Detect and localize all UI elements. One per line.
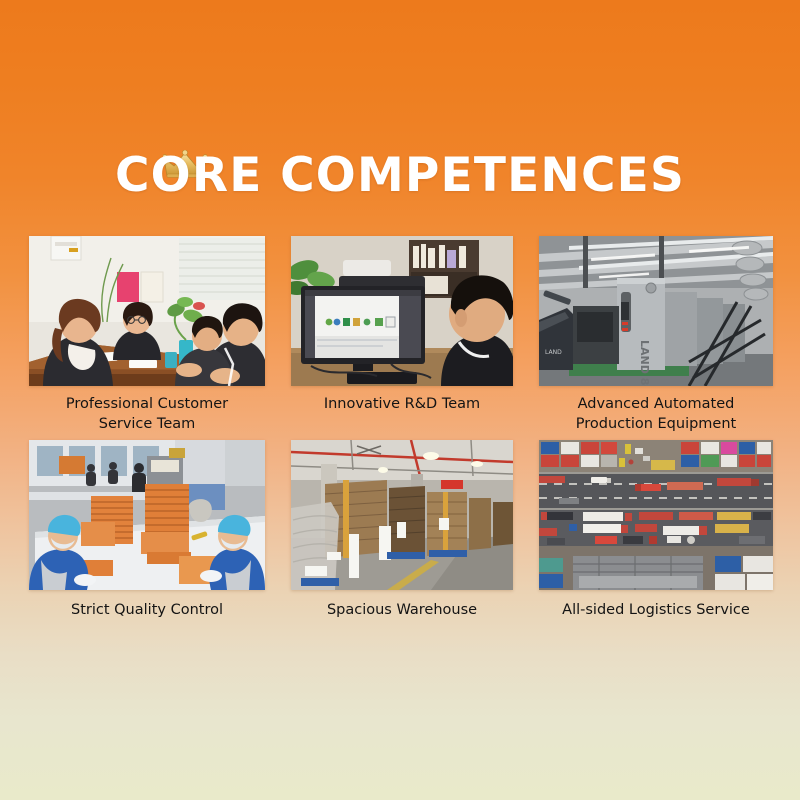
page-title: CORE COMPETENCES: [0, 152, 800, 199]
photo-innovative-rd-team: [291, 236, 513, 386]
caption-advanced-automated-production-equipment: Advanced Automated Production Equipment: [539, 395, 773, 434]
card-professional-customer-service-team[interactable]: Professional Customer Service Team: [29, 236, 265, 434]
caption-innovative-rd-team: Innovative R&D Team: [291, 395, 513, 415]
caption-spacious-warehouse: Spacious Warehouse: [291, 601, 513, 621]
svg-text:LAND: LAND: [545, 349, 562, 356]
competence-row-1: Professional Customer Service Team: [29, 236, 773, 434]
caption-line-2: Production Equipment: [576, 416, 736, 432]
caption-line-1: Strict Quality Control: [71, 602, 223, 618]
caption-line-1: Advanced Automated: [578, 396, 735, 412]
photo-professional-customer-service-team: [29, 236, 265, 386]
caption-line-2: Service Team: [99, 416, 196, 432]
caption-professional-customer-service-team: Professional Customer Service Team: [29, 395, 265, 434]
photo-all-sided-logistics-service: [539, 440, 773, 590]
competence-row-2: Strict Quality Control: [29, 440, 773, 621]
card-strict-quality-control[interactable]: Strict Quality Control: [29, 440, 265, 621]
core-competences-banner: CORE COMPETENCES: [0, 0, 800, 800]
caption-all-sided-logistics-service: All-sided Logistics Service: [539, 601, 773, 621]
page-title-block: CORE COMPETENCES: [0, 0, 800, 199]
photo-spacious-warehouse: [291, 440, 513, 590]
caption-line-1: All-sided Logistics Service: [562, 602, 750, 618]
caption-line-1: Spacious Warehouse: [327, 602, 477, 618]
competence-grid: Professional Customer Service Team: [29, 236, 773, 621]
caption-strict-quality-control: Strict Quality Control: [29, 601, 265, 621]
svg-text:LAND 800: LAND 800: [638, 340, 651, 386]
card-spacious-warehouse[interactable]: Spacious Warehouse: [291, 440, 513, 621]
caption-line-1: Innovative R&D Team: [324, 396, 480, 412]
caption-line-1: Professional Customer: [66, 396, 228, 412]
card-all-sided-logistics-service[interactable]: All-sided Logistics Service: [539, 440, 773, 621]
card-innovative-rd-team[interactable]: Innovative R&D Team: [291, 236, 513, 434]
card-advanced-automated-production-equipment[interactable]: LAND 800 LAND: [539, 236, 773, 434]
photo-advanced-automated-production-equipment: LAND 800 LAND: [539, 236, 773, 386]
photo-strict-quality-control: [29, 440, 265, 590]
